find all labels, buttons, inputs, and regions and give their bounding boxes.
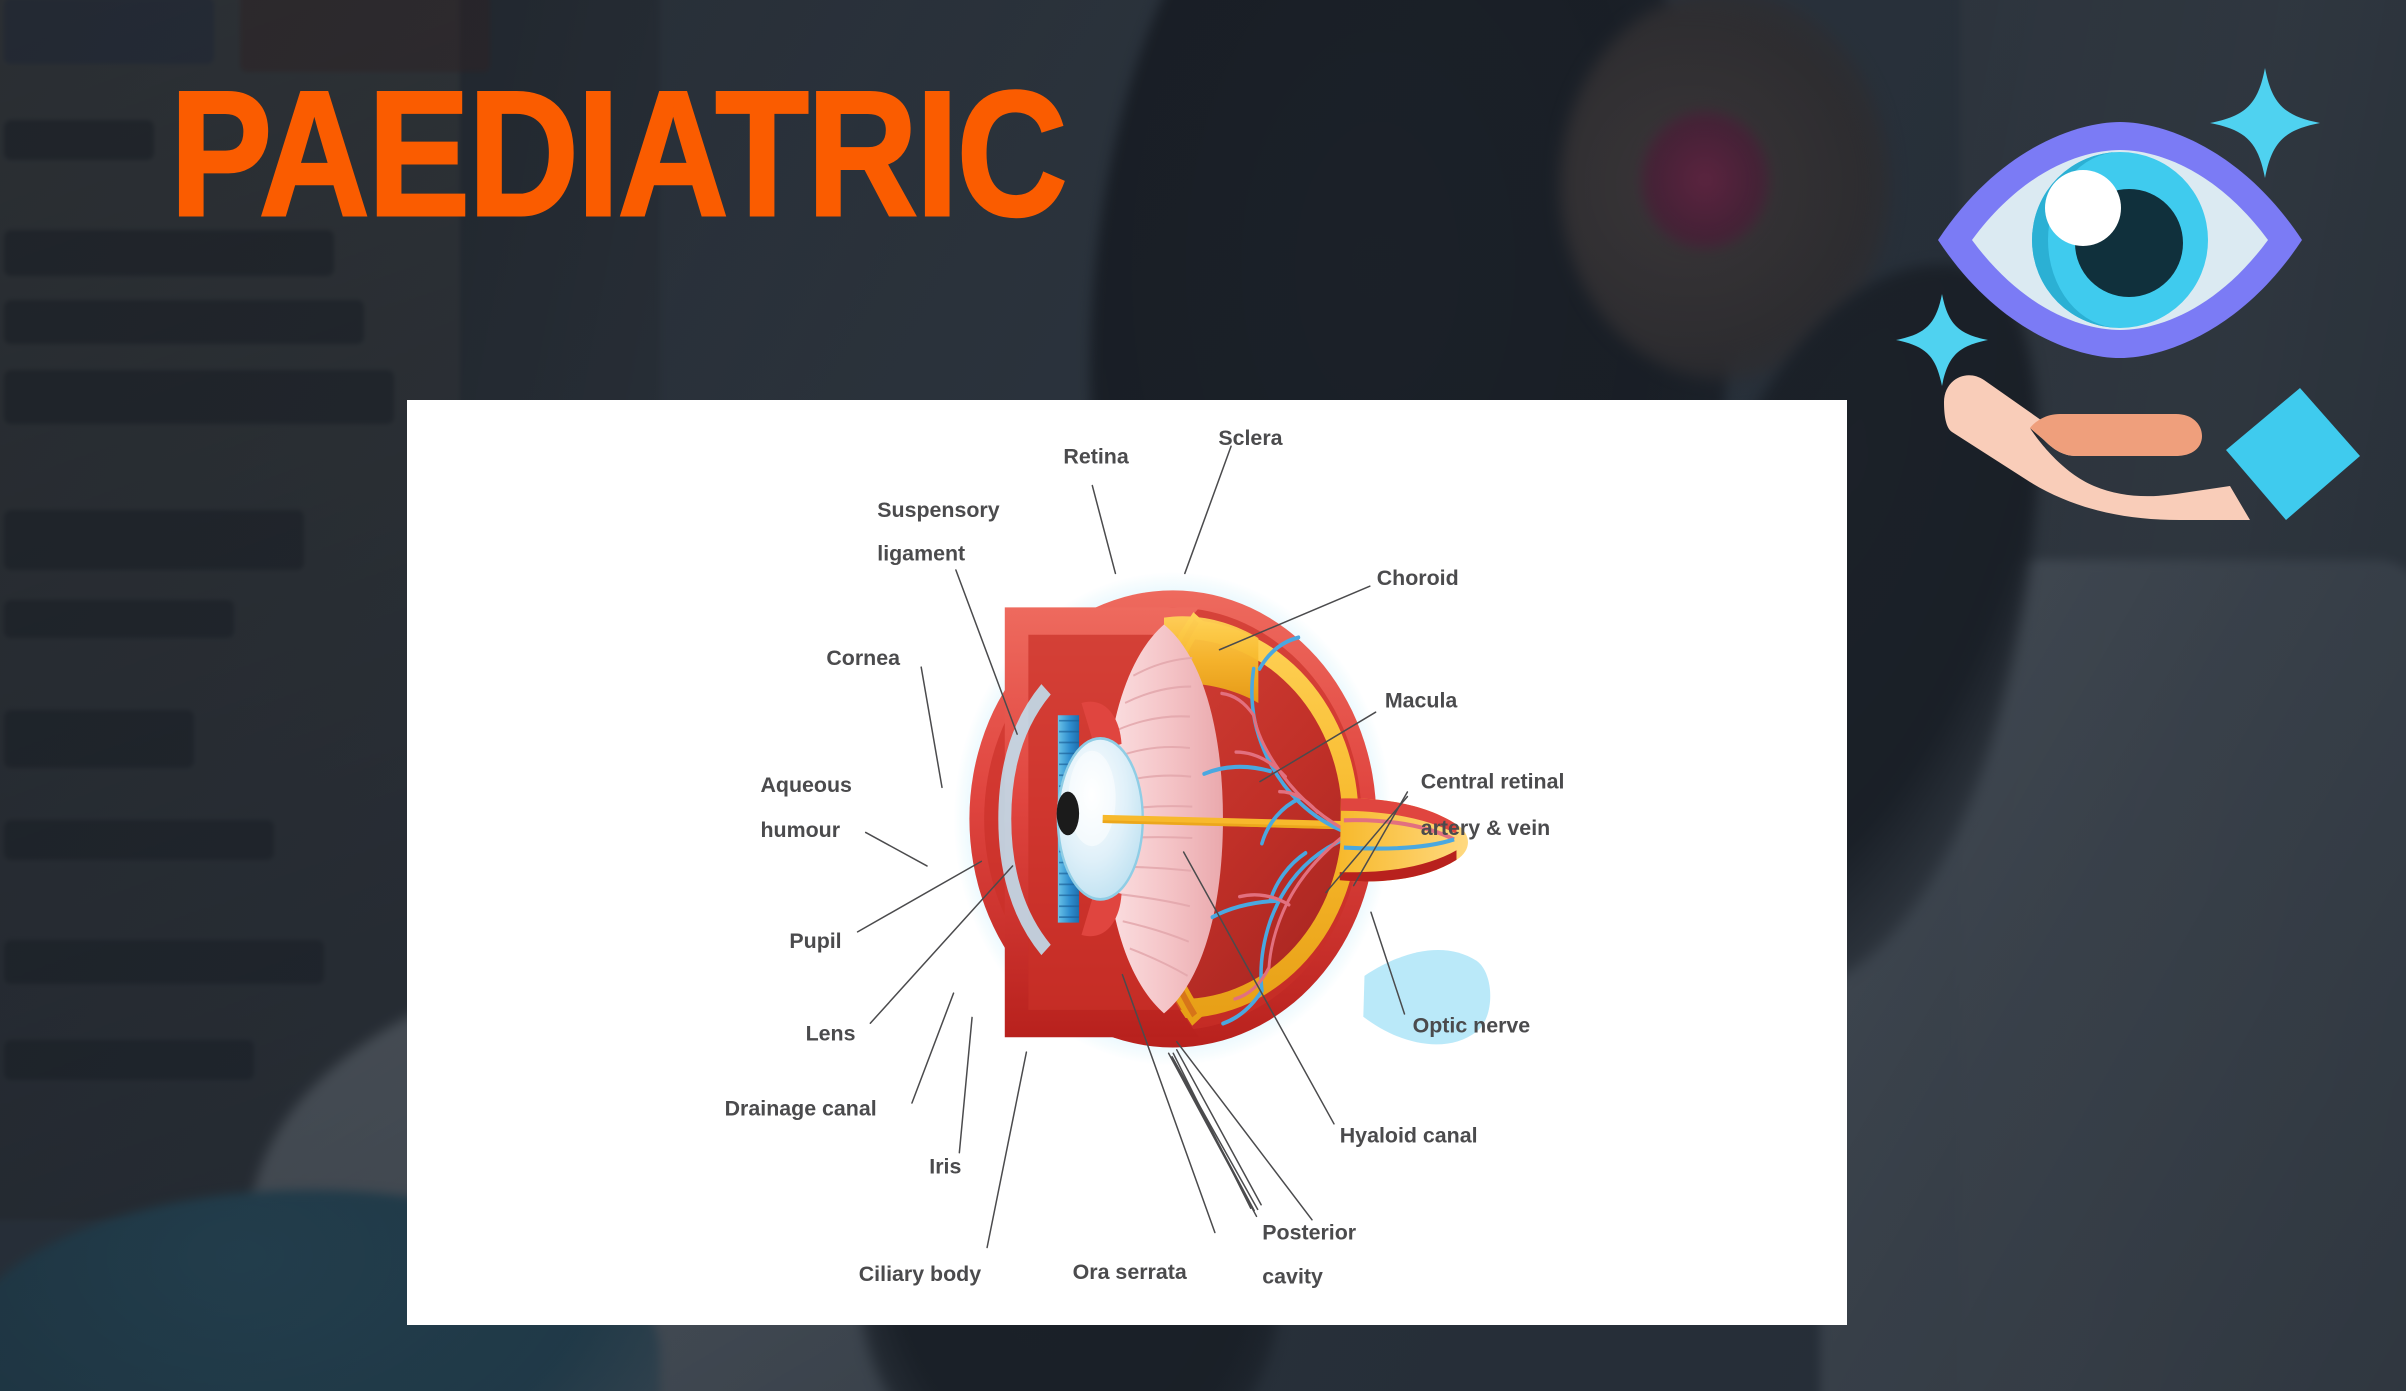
eyeball-illustration: [953, 572, 1490, 1066]
label-posterior-cavity-line2: cavity: [1262, 1264, 1323, 1288]
label-suspensory-ligament-line2: ligament: [877, 542, 965, 566]
label-hyaloid-canal: Hyaloid canal: [1340, 1123, 1478, 1147]
page-title: PAEDIATRIC: [170, 72, 1066, 236]
label-optic-nerve: Optic nerve: [1413, 1013, 1531, 1037]
label-central-retinal-artery-vein: Central retinal: [1421, 770, 1565, 794]
label-pupil: Pupil: [789, 929, 841, 953]
label-aqueous-humour-line2: humour: [760, 818, 840, 842]
sleeve-icon: [2226, 388, 2360, 520]
hand-thumb-icon: [2030, 414, 2202, 456]
label-aqueous-humour: Aqueous: [760, 773, 852, 797]
label-lens: Lens: [806, 1022, 856, 1046]
label-sclera: Sclera: [1218, 426, 1283, 450]
sparkle-icon: [1896, 294, 1988, 386]
label-ora-serrata: Ora serrata: [1073, 1260, 1188, 1284]
label-retina: Retina: [1063, 445, 1129, 469]
label-central-retinal-artery-vein-line2: artery & vein: [1421, 816, 1551, 840]
label-macula: Macula: [1385, 689, 1459, 713]
label-choroid: Choroid: [1377, 566, 1459, 590]
label-suspensory-ligament: Suspensory: [877, 498, 999, 522]
label-ciliary-body: Ciliary body: [859, 1262, 981, 1286]
label-posterior-cavity: Posterior: [1262, 1220, 1356, 1244]
eye-in-hand-icon: [1880, 50, 2360, 530]
label-cornea: Cornea: [826, 646, 901, 670]
eye-anatomy-diagram: Retina Sclera Choroid Macula Central ret…: [407, 400, 1847, 1325]
label-drainage-canal: Drainage canal: [725, 1097, 877, 1121]
slide-canvas: PAEDIATRIC: [0, 0, 2406, 1391]
label-iris: Iris: [929, 1155, 961, 1179]
eye-highlight: [2045, 170, 2121, 246]
